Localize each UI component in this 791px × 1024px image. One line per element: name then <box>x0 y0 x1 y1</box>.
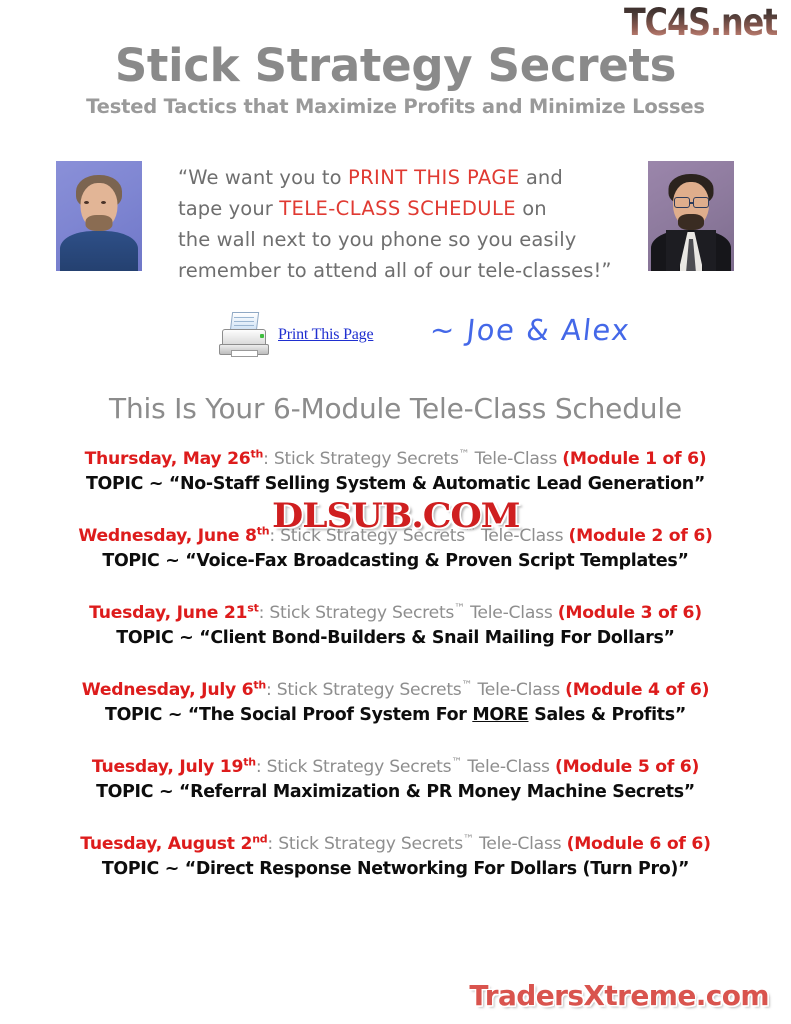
module-item: Tuesday, June 21st: Stick Strategy Secre… <box>0 601 791 651</box>
module-date-ordinal: th <box>257 524 270 537</box>
topic-prefix: TOPIC ~ <box>105 705 188 725</box>
module-header-line: Tuesday, August 2nd: Stick Strategy Secr… <box>0 832 791 857</box>
module-item: Wednesday, June 8th: Stick Strategy Secr… <box>0 524 791 574</box>
quote-line-4: remember to attend all of our tele-class… <box>178 255 638 286</box>
topic-text-pre: “The Social Proof System For <box>188 705 472 725</box>
module-badge: (Module 5 of 6) <box>555 757 699 777</box>
trademark-icon: ™ <box>462 678 473 691</box>
quote-line-3: the wall next to you phone so you easily <box>178 224 638 255</box>
module-header-line: Wednesday, June 8th: Stick Strategy Secr… <box>0 524 791 549</box>
topic-prefix: TOPIC ~ <box>86 474 169 494</box>
module-badge: (Module 1 of 6) <box>562 449 706 469</box>
trademark-icon: ™ <box>465 524 476 537</box>
module-class-name: Stick Strategy Secrets <box>267 757 452 777</box>
tradersxtreme-footer-logo: TradersXtreme.com <box>469 979 769 1012</box>
module-date-ordinal: th <box>243 755 256 768</box>
topic-text-post: Sales & Profits” <box>528 705 686 725</box>
printer-led-icon <box>260 334 264 338</box>
module-item: Thursday, May 26th: Stick Strategy Secre… <box>0 447 791 497</box>
avatar-beard <box>86 215 113 231</box>
module-date: Tuesday, June 21 <box>89 603 247 623</box>
module-colon: : <box>266 680 272 700</box>
module-class-suffix: Tele-Class <box>462 757 555 777</box>
quote-text: on <box>516 197 547 220</box>
flyer-page: TC4S.net Stick Strategy Secrets Tested T… <box>0 0 791 1024</box>
module-topic-line: TOPIC ~ “No-Staff Selling System & Autom… <box>0 472 791 497</box>
module-class-name: Stick Strategy Secrets <box>274 449 459 469</box>
module-topic-line: TOPIC ~ “Direct Response Networking For … <box>0 857 791 882</box>
topic-text-pre: “Client Bond-Builders & Snail Mailing Fo… <box>199 628 675 648</box>
topic-prefix: TOPIC ~ <box>102 551 185 571</box>
print-this-page-link[interactable]: Print This Page <box>278 326 373 344</box>
pull-quote: “We want you to PRINT THIS PAGE and tape… <box>178 162 638 286</box>
module-list: Thursday, May 26th: Stick Strategy Secre… <box>0 447 791 909</box>
module-header-line: Tuesday, July 19th: Stick Strategy Secre… <box>0 755 791 780</box>
printer-paper-line <box>234 325 254 326</box>
module-item: Wednesday, July 6th: Stick Strategy Secr… <box>0 678 791 728</box>
topic-text-pre: “Voice-Fax Broadcasting & Proven Script … <box>185 551 688 571</box>
quote-line-1: “We want you to PRINT THIS PAGE and <box>178 162 638 193</box>
quote-text: “We want you to <box>178 166 348 189</box>
printer-paper-line <box>234 321 254 322</box>
module-class-suffix: Tele-Class <box>476 526 569 546</box>
printer-paper-line <box>234 317 254 318</box>
module-topic-line: TOPIC ~ “The Social Proof System For MOR… <box>0 703 791 728</box>
module-class-suffix: Tele-Class <box>472 680 565 700</box>
module-class-suffix: Tele-Class <box>465 603 558 623</box>
avatar-eye-left <box>84 201 89 204</box>
printer-icon <box>218 312 270 358</box>
module-date: Thursday, May 26 <box>85 449 251 469</box>
module-header-line: Tuesday, June 21st: Stick Strategy Secre… <box>0 601 791 626</box>
quote-highlight-schedule: TELE-CLASS SCHEDULE <box>279 197 516 220</box>
topic-text-pre: “No-Staff Selling System & Automatic Lea… <box>169 474 705 494</box>
module-class-name: Stick Strategy Secrets <box>278 834 463 854</box>
trademark-icon: ™ <box>463 832 474 845</box>
avatar-beard <box>678 214 704 230</box>
module-badge: (Module 6 of 6) <box>567 834 711 854</box>
module-colon: : <box>263 449 269 469</box>
avatar-shirt <box>60 231 138 271</box>
glasses-bridge <box>690 202 693 204</box>
topic-text-pre: “Referral Maximization & PR Money Machin… <box>179 782 695 802</box>
module-date: Tuesday, August 2 <box>80 834 252 854</box>
module-item: Tuesday, July 19th: Stick Strategy Secre… <box>0 755 791 805</box>
module-item: Tuesday, August 2nd: Stick Strategy Secr… <box>0 832 791 882</box>
module-class-suffix: Tele-Class <box>474 834 567 854</box>
avatar-alex <box>648 161 734 271</box>
quote-text: tape your <box>178 197 279 220</box>
topic-text-underlined: MORE <box>472 705 528 725</box>
module-header-line: Wednesday, July 6th: Stick Strategy Secr… <box>0 678 791 703</box>
module-date-ordinal: st <box>247 601 258 614</box>
topic-prefix: TOPIC ~ <box>116 628 199 648</box>
signature-joe-and-alex: ~ Joe & Alex <box>428 313 632 347</box>
page-title: Stick Strategy Secrets <box>0 40 791 92</box>
quote-line-2: tape your TELE-CLASS SCHEDULE on <box>178 193 638 224</box>
module-badge: (Module 3 of 6) <box>558 603 702 623</box>
page-header: Stick Strategy Secrets Tested Tactics th… <box>0 40 791 118</box>
avatar-joe <box>56 161 142 271</box>
module-topic-line: TOPIC ~ “Voice-Fax Broadcasting & Proven… <box>0 549 791 574</box>
schedule-heading: This Is Your 6-Module Tele-Class Schedul… <box>0 392 791 425</box>
topic-prefix: TOPIC ~ <box>96 782 179 802</box>
module-class-name: Stick Strategy Secrets <box>280 526 465 546</box>
topic-text-pre: “Direct Response Networking For Dollars … <box>185 859 689 879</box>
glasses-icon <box>674 197 690 208</box>
module-class-name: Stick Strategy Secrets <box>269 603 454 623</box>
glasses-icon <box>693 197 709 208</box>
module-class-name: Stick Strategy Secrets <box>277 680 462 700</box>
page-subtitle: Tested Tactics that Maximize Profits and… <box>0 95 791 118</box>
module-topic-line: TOPIC ~ “Client Bond-Builders & Snail Ma… <box>0 626 791 651</box>
quote-text: and <box>520 166 563 189</box>
quote-highlight-print: PRINT THIS PAGE <box>348 166 520 189</box>
module-date: Tuesday, July 19 <box>92 757 243 777</box>
module-date: Wednesday, July 6 <box>82 680 254 700</box>
module-date-ordinal: th <box>253 678 266 691</box>
module-date: Wednesday, June 8 <box>78 526 256 546</box>
module-class-suffix: Tele-Class <box>469 449 562 469</box>
module-date-ordinal: nd <box>252 832 267 845</box>
trademark-icon: ™ <box>459 447 470 460</box>
topic-prefix: TOPIC ~ <box>102 859 185 879</box>
trademark-icon: ™ <box>451 755 462 768</box>
tc4s-brand-logo: TC4S.net <box>624 1 777 44</box>
module-badge: (Module 4 of 6) <box>565 680 709 700</box>
module-topic-line: TOPIC ~ “Referral Maximization & PR Mone… <box>0 780 791 805</box>
trademark-icon: ™ <box>454 601 465 614</box>
printer-output-tray <box>231 350 258 357</box>
module-header-line: Thursday, May 26th: Stick Strategy Secre… <box>0 447 791 472</box>
avatar-eye-right <box>101 201 106 204</box>
module-date-ordinal: th <box>251 447 264 460</box>
module-badge: (Module 2 of 6) <box>569 526 713 546</box>
print-page-action[interactable]: Print This Page <box>218 312 373 358</box>
